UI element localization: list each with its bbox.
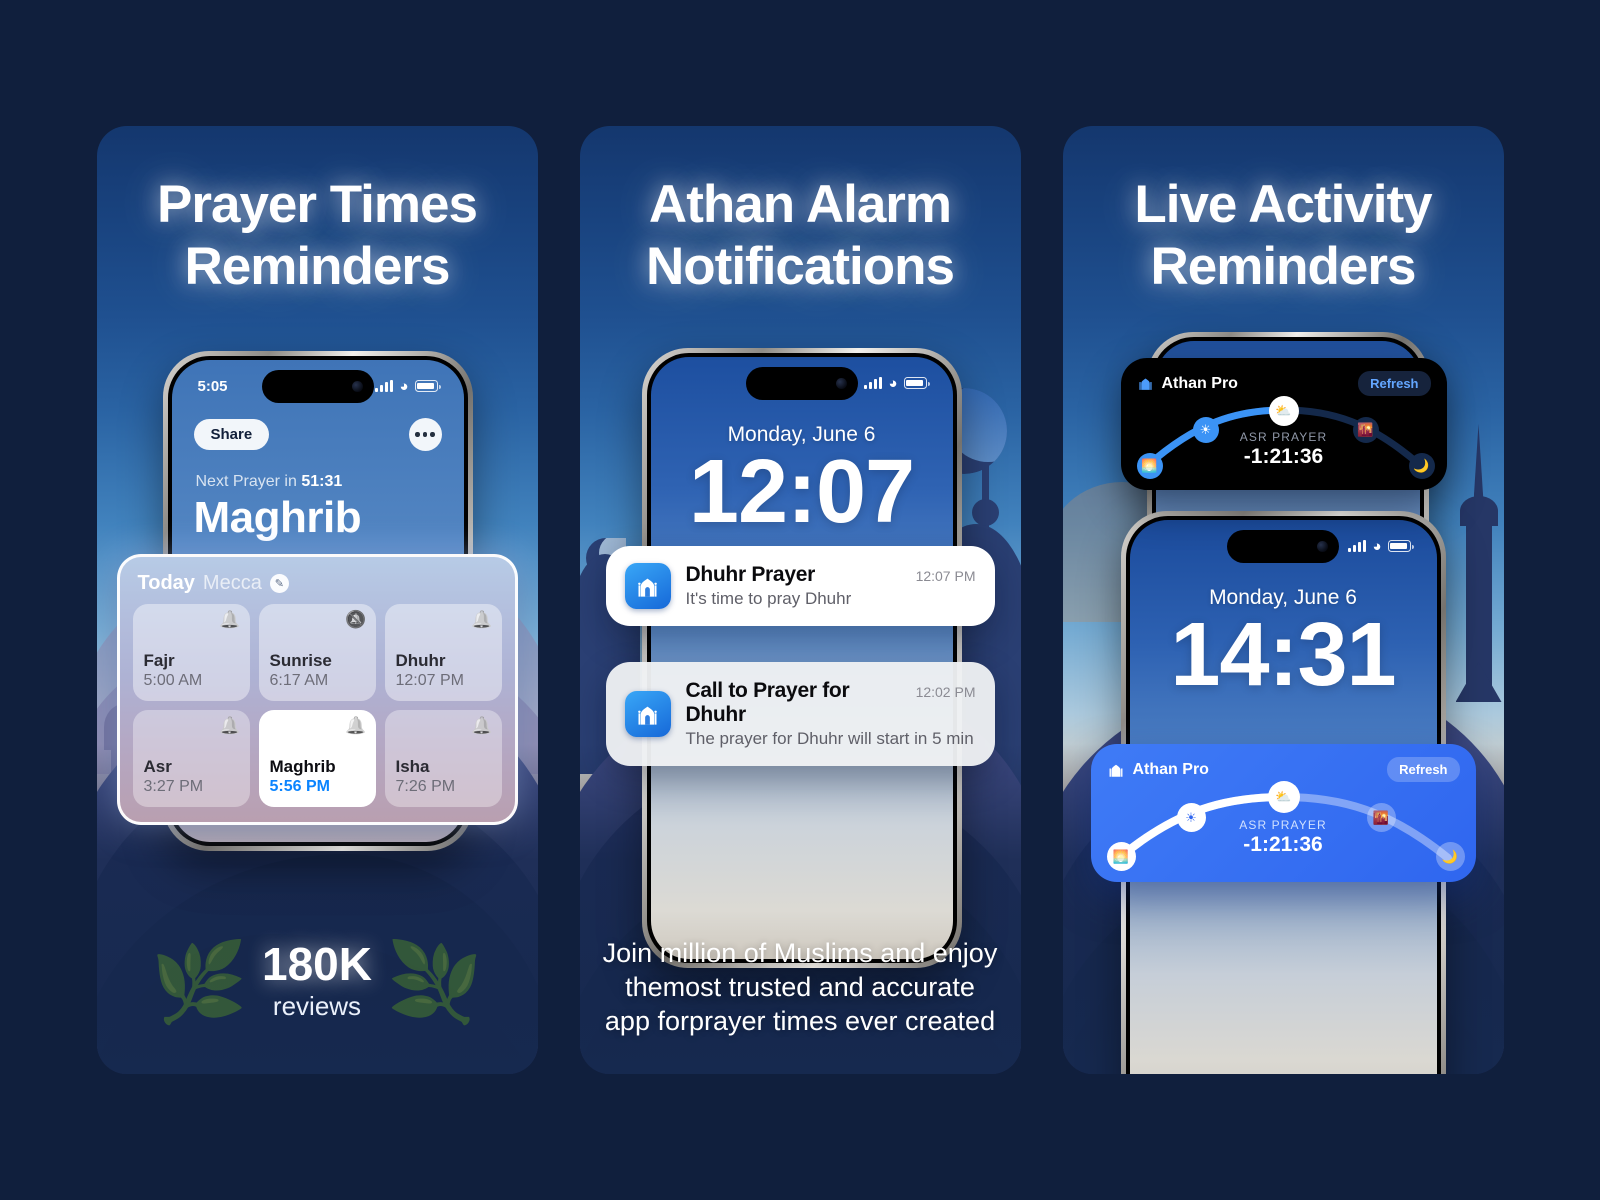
wifi-icon: ◕ xyxy=(1372,539,1381,554)
widget-center-text: ASR PRAYER -1:21:36 xyxy=(1107,818,1460,857)
status-time: 5:05 xyxy=(198,378,228,395)
today-prayer-card: Today Mecca ✎ 🔔Fajr5:00 AM🔕Sunrise6:17 A… xyxy=(117,554,518,825)
prayer-cell[interactable]: 🔔Maghrib5:56 PM xyxy=(259,710,376,807)
next-prayer-line: Next Prayer in 51:31 xyxy=(196,473,343,491)
reviews-badge: 🌿 180K reviews 🌿 xyxy=(97,941,538,1022)
prayer-cell[interactable]: 🔔Asr3:27 PM xyxy=(133,710,250,807)
notification-time: 12:07 PM xyxy=(916,568,976,584)
page-title-line1: Athan Alarm xyxy=(580,174,1021,236)
prayer-cell-time: 5:56 PM xyxy=(270,778,365,796)
reviews-text-block: 180K reviews xyxy=(262,941,372,1022)
prayer-cell[interactable]: 🔔Dhuhr12:07 PM xyxy=(385,604,502,701)
widget-countdown: -1:21:36 xyxy=(1137,445,1431,469)
laurel-wreath-icon: 🌿 xyxy=(151,943,248,1021)
prayer-cell-time: 7:26 PM xyxy=(396,778,491,796)
panel-prayer-times: Prayer Times Reminders 5:05 ◕ xyxy=(97,126,538,1074)
bell-icon[interactable]: 🔔 xyxy=(471,611,492,628)
wifi-icon: ◕ xyxy=(888,376,897,391)
next-prayer-prefix: Next Prayer in xyxy=(196,473,302,490)
refresh-button[interactable]: Refresh xyxy=(1358,371,1430,396)
laurel-wreath-icon-right: 🌿 xyxy=(386,943,483,1021)
iphone-mockup: ◕ Monday, June 6 12:07 xyxy=(642,348,962,968)
screenshot-stage: Prayer Times Reminders 5:05 ◕ xyxy=(0,0,1600,1200)
prayer-cell-time: 5:00 AM xyxy=(144,672,239,690)
prayer-cell-name: Asr xyxy=(144,757,239,777)
widget-app-name: Athan Pro xyxy=(1162,375,1238,393)
dynamic-island xyxy=(746,367,858,400)
cellular-signal-icon xyxy=(1348,540,1366,552)
prayer-cell-name: Sunrise xyxy=(270,651,365,671)
card-city-label: Mecca xyxy=(203,572,262,595)
notification-banner[interactable]: Dhuhr Prayer 12:07 PM It's time to pray … xyxy=(606,546,995,626)
battery-icon xyxy=(904,377,927,389)
notification-body: The prayer for Dhuhr will start in 5 min xyxy=(686,729,976,749)
mosque-spire-bulb xyxy=(972,499,999,526)
live-activity-widget-blue[interactable]: Athan Pro Refresh 🌅 ☀ ⛅ 🌇 🌙 ASR PRAYER -… xyxy=(1091,744,1476,882)
lock-screen-time: 14:31 xyxy=(1130,604,1437,707)
page-title: Live Activity Reminders xyxy=(1063,174,1504,298)
notification-text: Call to Prayer for Dhuhr 12:02 PM The pr… xyxy=(686,679,976,749)
card-header: Today Mecca ✎ xyxy=(120,557,515,604)
prayer-cell-name: Fajr xyxy=(144,651,239,671)
bell-icon[interactable]: 🔔 xyxy=(471,717,492,734)
page-title-line1: Prayer Times xyxy=(97,174,538,236)
mosque-glyph-icon xyxy=(1137,375,1154,392)
prayer-arc: 🌅 ☀ ⛅ 🌇 🌙 ASR PRAYER -1:21:36 xyxy=(1107,784,1460,868)
notification-title: Call to Prayer for Dhuhr xyxy=(686,679,906,727)
cellular-signal-icon xyxy=(864,377,882,389)
widget-brand: Athan Pro xyxy=(1107,761,1209,779)
bell-icon[interactable]: 🔔 xyxy=(345,717,366,734)
widget-brand: Athan Pro xyxy=(1137,375,1238,393)
notification-time: 12:02 PM xyxy=(916,684,976,700)
status-indicators: ◕ xyxy=(375,379,437,394)
prayer-cell-name: Isha xyxy=(396,757,491,777)
mosque-app-icon xyxy=(625,691,671,737)
page-title-line2: Reminders xyxy=(1063,236,1504,298)
prayer-cell-name: Maghrib xyxy=(270,757,365,777)
page-title-line2: Notifications xyxy=(580,236,1021,298)
front-camera-icon xyxy=(836,378,847,389)
status-indicators: ◕ xyxy=(864,376,926,391)
notification-body: It's time to pray Dhuhr xyxy=(686,589,976,609)
prayer-cell[interactable]: 🔔Fajr5:00 AM xyxy=(133,604,250,701)
widget-prayer-label: ASR PRAYER xyxy=(1107,818,1460,832)
notification-top-row: Call to Prayer for Dhuhr 12:02 PM xyxy=(686,679,976,727)
prayer-cell-time: 3:27 PM xyxy=(144,778,239,796)
next-prayer-countdown: 51:31 xyxy=(301,473,342,490)
status-indicators: ◕ xyxy=(1348,539,1410,554)
notification-title: Dhuhr Prayer xyxy=(686,563,815,587)
bell-icon[interactable]: 🔔 xyxy=(219,717,240,734)
reviews-count: 180K xyxy=(262,941,372,987)
wifi-icon: ◕ xyxy=(399,379,408,394)
front-camera-icon xyxy=(352,381,363,392)
refresh-button[interactable]: Refresh xyxy=(1387,757,1459,782)
prayer-cell[interactable]: 🔔Isha7:26 PM xyxy=(385,710,502,807)
share-button[interactable]: Share xyxy=(194,419,270,450)
prayer-cell-name: Dhuhr xyxy=(396,651,491,671)
mosque-app-icon xyxy=(625,563,671,609)
notification-banner-secondary[interactable]: Call to Prayer for Dhuhr 12:02 PM The pr… xyxy=(606,662,995,766)
front-camera-icon xyxy=(1317,541,1328,552)
current-prayer-name: Maghrib xyxy=(194,493,362,543)
widget-app-name: Athan Pro xyxy=(1133,761,1209,779)
lock-screen-time: 12:07 xyxy=(651,441,953,544)
prayer-arc: 🌅 ☀ ⛅ 🌇 🌙 ASR PRAYER -1:21:36 xyxy=(1137,398,1431,476)
prayer-cell-time: 6:17 AM xyxy=(270,672,365,690)
panel-athan-alarm: Athan Alarm Notifications ◕ Monday, June xyxy=(580,126,1021,1074)
reviews-label: reviews xyxy=(262,991,372,1022)
dynamic-island xyxy=(1227,530,1339,563)
mosque-glyph-icon xyxy=(1107,761,1125,779)
battery-icon xyxy=(1388,540,1411,552)
cellular-signal-icon xyxy=(375,380,393,392)
phone-lock-screen: ◕ Monday, June 6 12:07 xyxy=(651,357,953,959)
page-title: Athan Alarm Notifications xyxy=(580,174,1021,298)
bell-slash-icon[interactable]: 🔕 xyxy=(345,611,366,628)
ellipsis-icon[interactable] xyxy=(409,418,442,451)
prayer-cell[interactable]: 🔕Sunrise6:17 AM xyxy=(259,604,376,701)
live-activity-widget-dark[interactable]: Athan Pro Refresh 🌅 ☀ ⛅ 🌇 🌙 ASR PRAYER -… xyxy=(1121,358,1447,490)
page-title-line2: Reminders xyxy=(97,236,538,298)
prayer-cell-time: 12:07 PM xyxy=(396,672,491,690)
app-toolbar: Share xyxy=(172,418,464,451)
node-sun-cloud-icon: ⛅ xyxy=(1268,781,1300,813)
node-sun-cloud-icon: ⛅ xyxy=(1269,396,1299,426)
notification-text: Dhuhr Prayer 12:07 PM It's time to pray … xyxy=(686,563,976,609)
widget-countdown: -1:21:36 xyxy=(1107,833,1460,857)
card-today-label: Today xyxy=(138,572,195,595)
dynamic-island xyxy=(262,370,374,403)
pencil-icon[interactable]: ✎ xyxy=(270,574,289,593)
panel-footer-text: Join million of Muslims and enjoy themos… xyxy=(602,936,999,1038)
notification-top-row: Dhuhr Prayer 12:07 PM xyxy=(686,563,976,587)
battery-icon xyxy=(415,380,438,392)
widget-header: Athan Pro Refresh xyxy=(1107,757,1460,782)
widget-prayer-label: ASR PRAYER xyxy=(1137,430,1431,444)
page-title: Prayer Times Reminders xyxy=(97,174,538,298)
widget-center-text: ASR PRAYER -1:21:36 xyxy=(1137,430,1431,469)
widget-header: Athan Pro Refresh xyxy=(1137,371,1431,396)
prayer-grid: 🔔Fajr5:00 AM🔕Sunrise6:17 AM🔔Dhuhr12:07 P… xyxy=(120,604,515,822)
bell-icon[interactable]: 🔔 xyxy=(219,611,240,628)
page-title-line1: Live Activity xyxy=(1063,174,1504,236)
panel-live-activity: Live Activity Reminders Athan Pro Refres… xyxy=(1063,126,1504,1074)
